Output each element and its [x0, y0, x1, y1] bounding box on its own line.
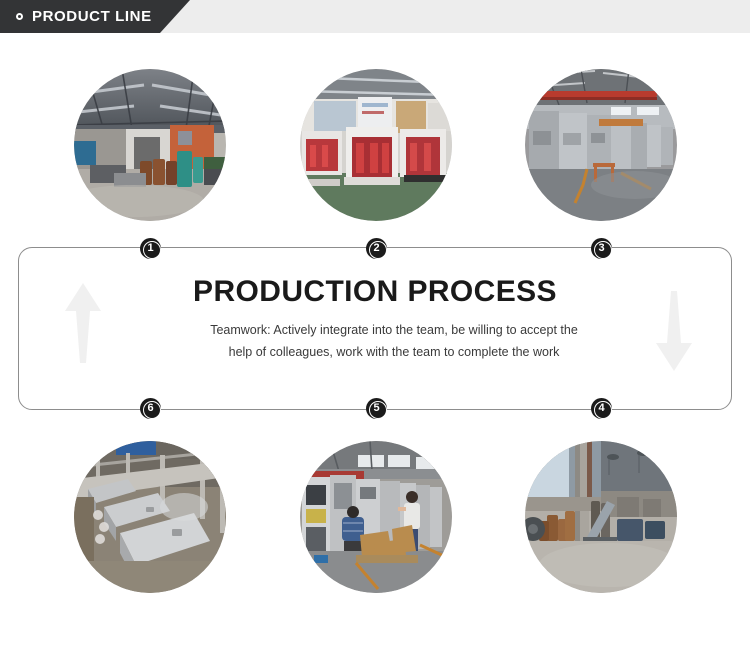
- step-number: 2: [373, 243, 379, 254]
- step-badge-5: 5: [366, 398, 387, 419]
- step-badge-1: 1: [140, 238, 161, 259]
- arrow-down-icon: [653, 289, 695, 378]
- header-bar: PRODUCT LINE: [0, 0, 750, 33]
- photo-packed-transformers: [300, 69, 452, 221]
- production-process-box: PRODUCTION PROCESS Teamwork: Actively in…: [18, 247, 732, 410]
- step-badge-4: 4: [591, 398, 612, 419]
- product-line-tag: PRODUCT LINE: [0, 0, 190, 33]
- photo-switchgear-assembly-hall-image: [525, 69, 677, 221]
- photo-packed-transformers-image: [300, 69, 452, 221]
- photo-coil-workshop: [525, 441, 677, 593]
- photo-enclosure-boxes: [74, 441, 226, 593]
- photo-coil-workshop-image: [525, 441, 677, 593]
- arrow-up-icon: [62, 281, 104, 370]
- photo-workers-assembling-panels-image: [300, 441, 452, 593]
- photo-enclosure-boxes-image: [74, 441, 226, 593]
- product-line-page: PRODUCT LINE: [0, 0, 750, 660]
- circle-outline-icon: [16, 13, 23, 20]
- step-badge-2: 2: [366, 238, 387, 259]
- step-number: 3: [598, 243, 604, 254]
- photo-warehouse-raw-materials-image: [74, 69, 226, 221]
- header-title: PRODUCT LINE: [32, 8, 152, 25]
- step-badge-3: 3: [591, 238, 612, 259]
- step-number: 4: [598, 403, 604, 414]
- process-title: PRODUCTION PROCESS: [19, 275, 731, 309]
- photo-warehouse-raw-materials: [74, 69, 226, 221]
- photo-switchgear-assembly-hall: [525, 69, 677, 221]
- step-number: 1: [147, 243, 153, 254]
- step-number: 6: [147, 403, 153, 414]
- step-badge-6: 6: [140, 398, 161, 419]
- step-number: 5: [373, 403, 379, 414]
- process-description: Teamwork: Actively integrate into the te…: [204, 320, 584, 363]
- photo-workers-assembling-panels: [300, 441, 452, 593]
